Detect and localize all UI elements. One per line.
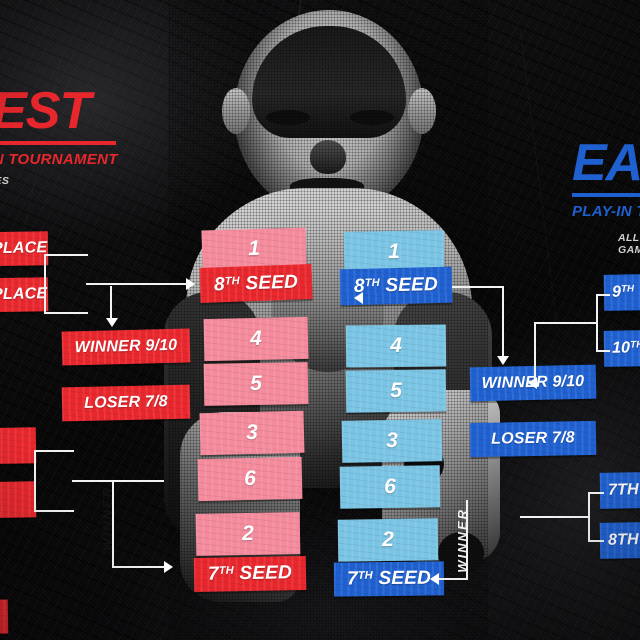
- east-seed-4[interactable]: 4: [346, 324, 446, 367]
- east-divider-rule: [572, 193, 640, 197]
- west-place-game-8th[interactable]: 8TH PLACE: [0, 277, 48, 313]
- west-place-game-7th-label: 7TH PLACE: [0, 239, 47, 259]
- bracket-line: [150, 283, 188, 285]
- west-winner-9-10-label: WINNER 9/10: [74, 337, 177, 358]
- west-seed-4[interactable]: 4: [204, 317, 309, 361]
- west-lower-plate-c[interactable]: [0, 599, 8, 634]
- play-in-bracket-graphic: WEST PLAY-IN TOURNAMENT ALL GAMES EAST P…: [0, 0, 640, 640]
- east-loser-7-8-label: LOSER 7/8: [491, 429, 575, 448]
- bracket-arrow-left-icon: [528, 377, 537, 389]
- bracket-line: [34, 450, 36, 512]
- bracket-line: [534, 322, 536, 384]
- west-heading: WEST PLAY-IN TOURNAMENT ALL GAMES: [0, 88, 174, 187]
- west-seed-3[interactable]: 3: [200, 411, 305, 456]
- east-place-game-7th-label: 7TH PLACE: [608, 480, 640, 500]
- east-seed-3-number: 3: [386, 429, 398, 453]
- east-place-game-7th[interactable]: 7TH PLACE: [600, 471, 640, 509]
- east-seed-2[interactable]: 2: [338, 518, 439, 561]
- east-note: ALL GAMES: [618, 232, 640, 256]
- bracket-line: [520, 516, 590, 518]
- bracket-line: [34, 450, 74, 452]
- west-conference-title: WEST: [0, 88, 174, 136]
- west-seed-2[interactable]: 2: [196, 512, 301, 556]
- bracket-line: [534, 322, 598, 324]
- east-conference-title: EAST: [572, 140, 640, 188]
- bracket-line: [34, 510, 74, 512]
- east-seed-1-number: 1: [388, 240, 400, 264]
- west-winner-9-10[interactable]: WINNER 9/10: [62, 328, 191, 365]
- west-8th-seed-label: 8TH SEED: [214, 271, 299, 296]
- west-seed-3-number: 3: [246, 421, 258, 445]
- bracket-line: [596, 294, 610, 296]
- bracket-line: [110, 286, 112, 320]
- bracket-line: [596, 350, 610, 352]
- west-divider-rule: [0, 141, 116, 145]
- bracket-line: [588, 540, 604, 542]
- east-seed-5[interactable]: 5: [346, 369, 447, 412]
- west-8th-seed-plate[interactable]: 8TH SEED: [199, 264, 312, 303]
- east-place-game-8th-label: 8TH PLACE: [608, 530, 640, 550]
- west-subtitle: PLAY-IN TOURNAMENT: [0, 151, 174, 168]
- bracket-arrow-down-icon: [106, 318, 118, 327]
- west-seed-4-number: 4: [250, 327, 262, 351]
- west-loser-7-8[interactable]: LOSER 7/8: [62, 385, 191, 422]
- east-rank-10th-label: 10TH: [612, 339, 640, 358]
- east-seed-4-number: 4: [390, 334, 402, 358]
- east-heading: EAST PLAY-IN TOURNAMENT: [572, 140, 640, 220]
- west-seed-6[interactable]: 6: [198, 457, 303, 501]
- bracket-line: [588, 492, 604, 494]
- bracket-arrow-down-icon: [497, 356, 509, 365]
- east-subtitle: PLAY-IN TOURNAMENT: [572, 203, 640, 220]
- west-loser-7-8-label: LOSER 7/8: [84, 393, 168, 413]
- west-seed-5-number: 5: [250, 372, 262, 396]
- west-lower-plate-b[interactable]: [0, 481, 36, 518]
- east-place-game-8th[interactable]: 8TH PLACE: [600, 521, 640, 559]
- west-seed-6-number: 6: [244, 467, 256, 491]
- west-7th-seed-plate[interactable]: 7TH SEED: [194, 556, 307, 592]
- west-7th-seed-label: 7TH SEED: [208, 562, 292, 585]
- east-seed-2-number: 2: [382, 528, 394, 552]
- east-seed-3[interactable]: 3: [342, 419, 443, 463]
- east-seed-6-number: 6: [384, 475, 396, 499]
- bracket-line: [438, 578, 468, 580]
- west-seed-5[interactable]: 5: [204, 362, 309, 406]
- bracket-line: [72, 480, 164, 482]
- east-7th-seed-label: 7TH SEED: [347, 568, 431, 591]
- bracket-line: [502, 286, 504, 358]
- bracket-line: [112, 566, 166, 568]
- east-7th-seed-plate[interactable]: 7TH SEED: [334, 561, 444, 596]
- west-winner-vertical-label: WINNER: [100, 486, 115, 551]
- east-loser-7-8[interactable]: LOSER 7/8: [470, 421, 597, 457]
- east-seed-5-number: 5: [390, 379, 402, 403]
- east-rank-9th[interactable]: 9TH: [604, 273, 640, 311]
- bracket-arrow-left-icon: [354, 292, 363, 304]
- west-place-game-7th[interactable]: 7TH PLACE: [0, 231, 48, 267]
- east-8th-seed-label: 8TH SEED: [354, 274, 438, 298]
- west-lower-plate-a[interactable]: [0, 427, 36, 464]
- west-place-game-8th-label: 8TH PLACE: [0, 285, 47, 305]
- bracket-line: [44, 312, 88, 314]
- bracket-line: [44, 254, 46, 314]
- bracket-arrow-right-icon: [164, 561, 173, 573]
- bracket-line: [452, 286, 504, 288]
- east-seed-6[interactable]: 6: [340, 465, 441, 508]
- west-seed-2-number: 2: [242, 522, 254, 546]
- west-seed-1-number: 1: [248, 237, 260, 261]
- bracket-arrow-left-icon: [430, 573, 439, 585]
- east-winner-vertical-label: WINNER: [455, 508, 470, 573]
- west-note: ALL GAMES: [0, 175, 174, 187]
- east-rank-10th[interactable]: 10TH: [604, 329, 640, 367]
- bracket-line: [44, 254, 88, 256]
- east-rank-9th-label: 9TH: [612, 283, 635, 301]
